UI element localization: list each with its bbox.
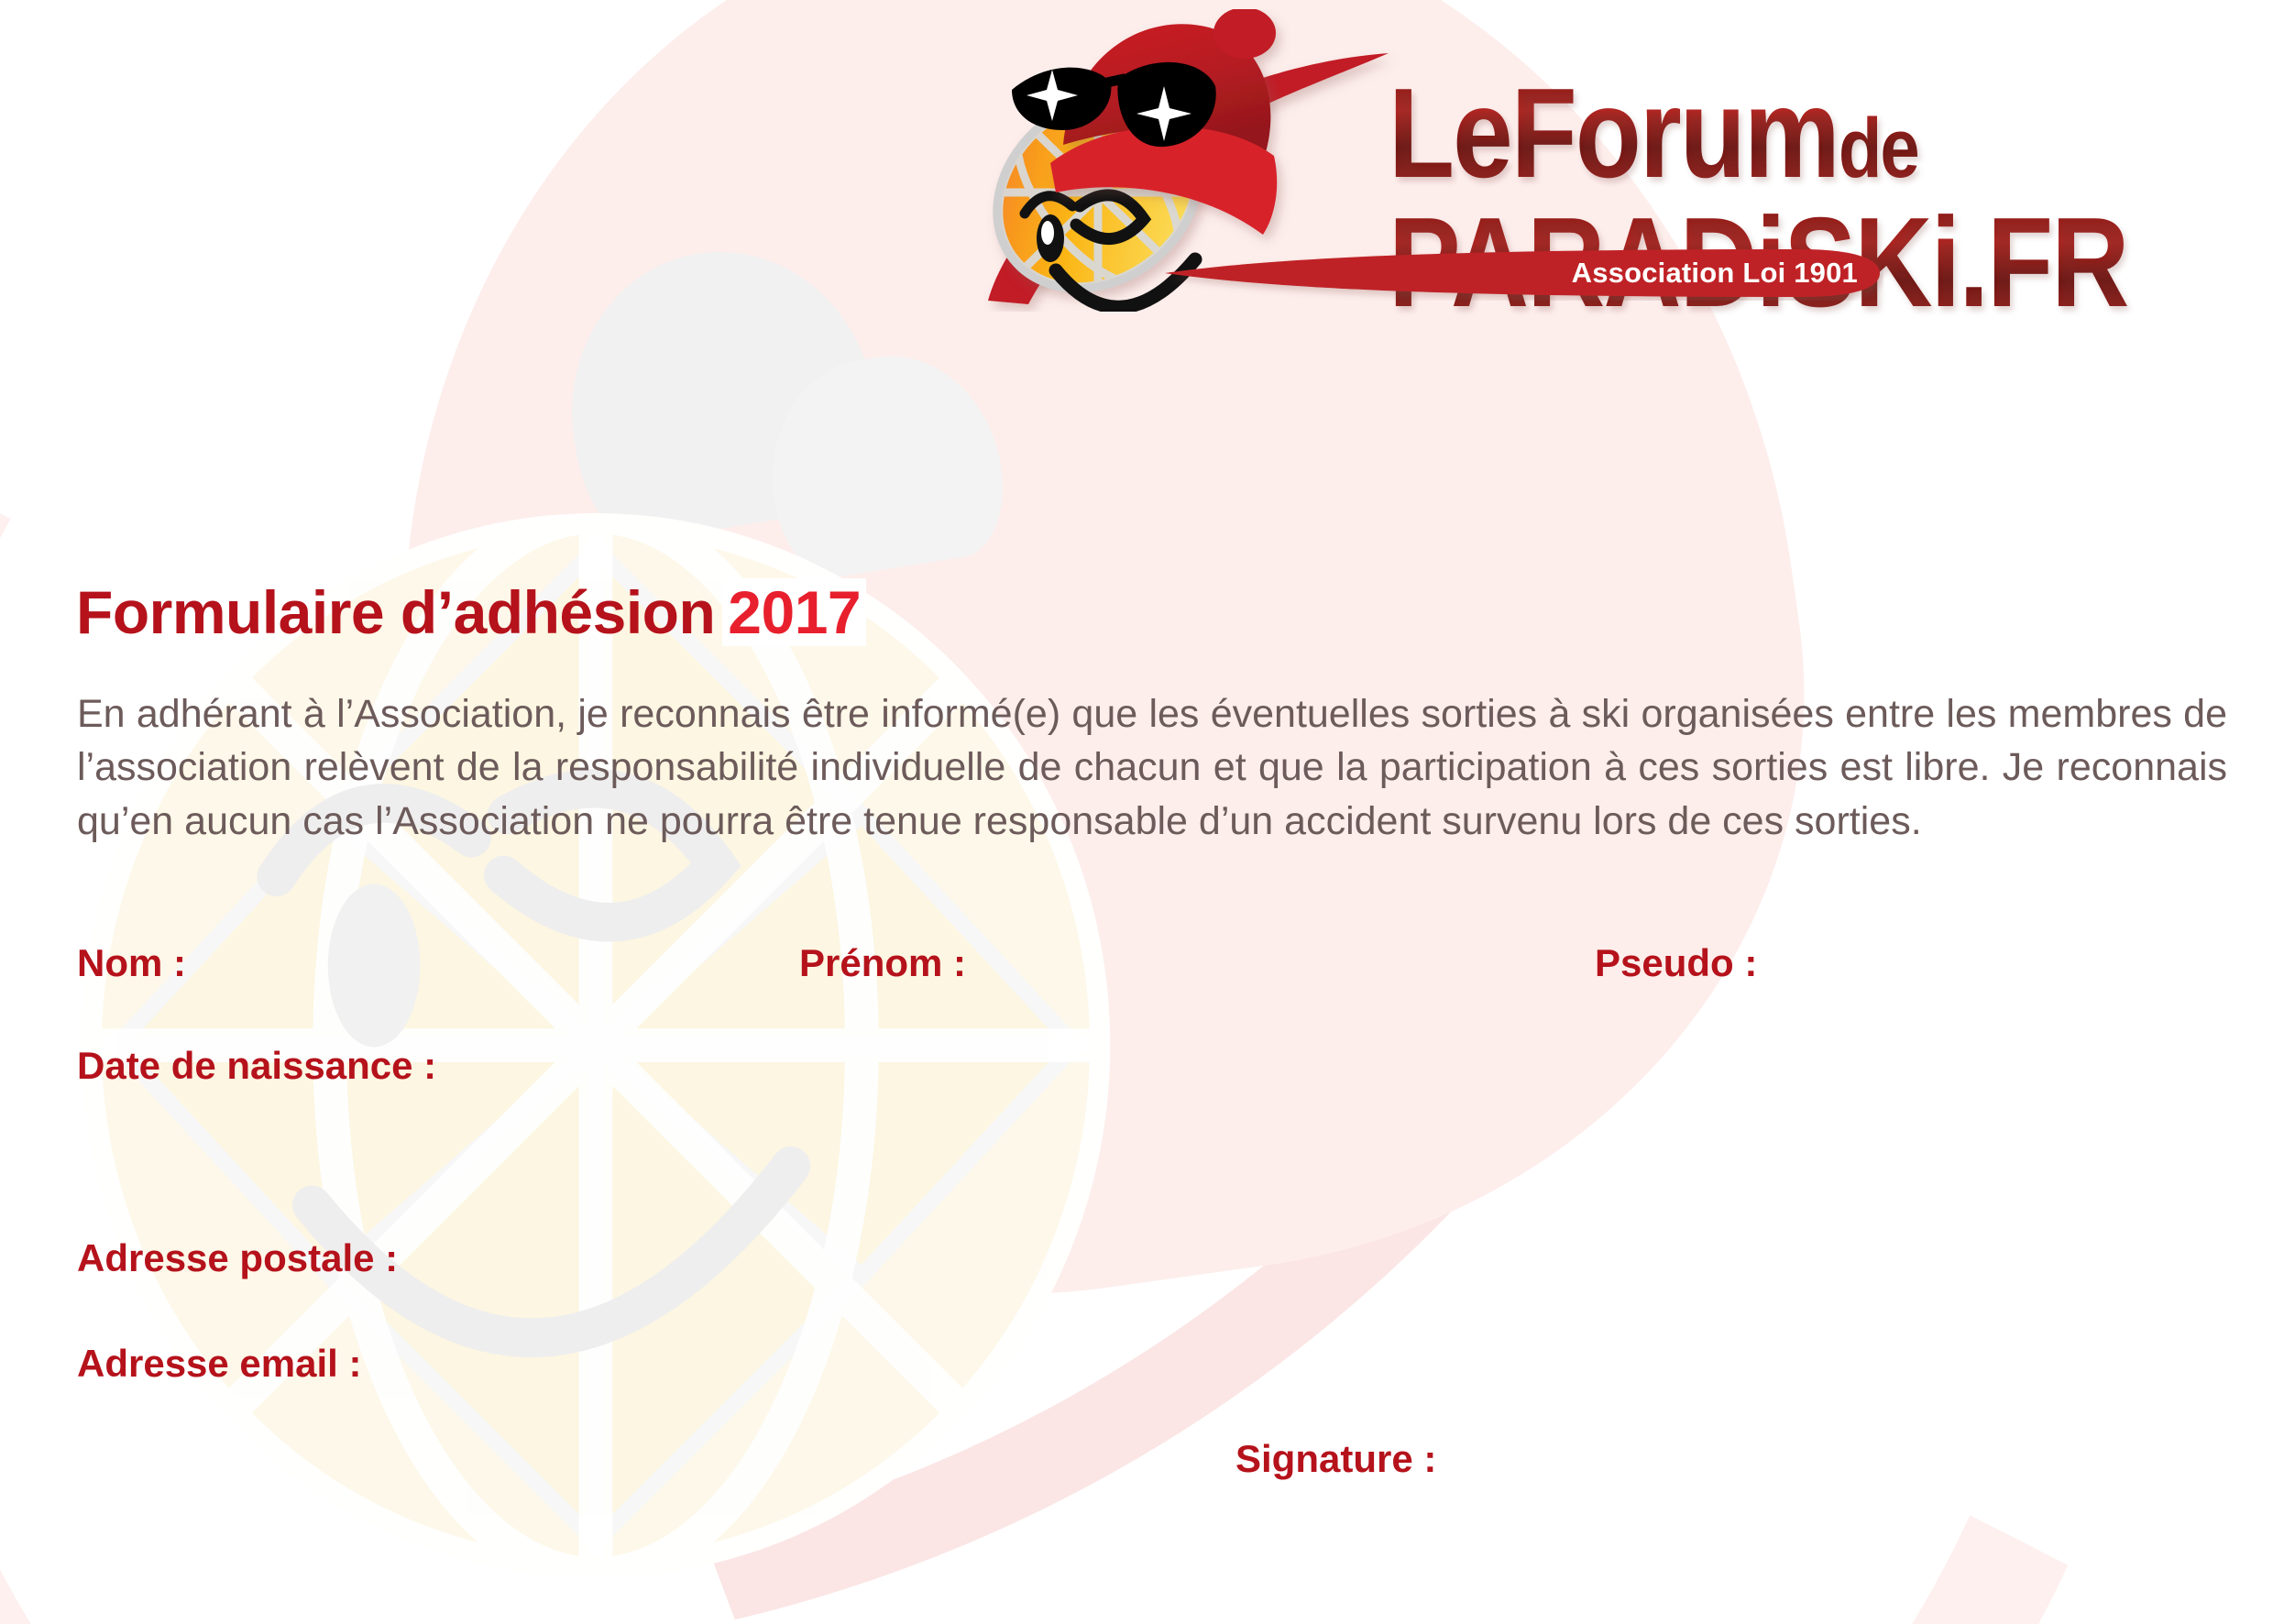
field-label-pseudo: Pseudo : <box>1595 941 1757 985</box>
association-badge: Association Loi 1901 <box>1159 246 1883 301</box>
field-label-signature: Signature : <box>1235 1437 1436 1481</box>
page-title-main: Formulaire d’adhésion <box>76 578 715 646</box>
field-label-adresse-postale: Adresse postale : <box>77 1236 398 1280</box>
page-title: Formulaire d’adhésion2017 <box>76 577 866 647</box>
document-page: LeForumde PARADiSKi.FR Association Loi 1… <box>0 0 2273 1624</box>
field-label-date-naissance: Date de naissance : <box>77 1044 436 1088</box>
watermark-goggles-left-icon <box>549 230 891 549</box>
field-label-prenom: Prénom : <box>799 941 966 985</box>
watermark-sparkle-icon <box>396 124 515 243</box>
badge-label: Association Loi 1901 <box>1572 246 1858 301</box>
logo-forum: Forum <box>1511 62 1839 205</box>
consent-paragraph: En adhérant à l’Association, je reconnai… <box>77 687 2227 848</box>
field-label-adresse-email: Adresse email : <box>77 1342 362 1386</box>
field-label-nom: Nom : <box>77 941 186 985</box>
page-title-year: 2017 <box>722 578 866 646</box>
site-logo[interactable]: LeForumde PARADiSKi.FR Association Loi 1… <box>972 9 2255 312</box>
logo-le: Le <box>1389 62 1511 205</box>
logo-line-one: LeForumde <box>1389 81 2259 188</box>
watermark-goggles-right-icon <box>755 341 1015 585</box>
logo-de: de <box>1839 101 1918 195</box>
